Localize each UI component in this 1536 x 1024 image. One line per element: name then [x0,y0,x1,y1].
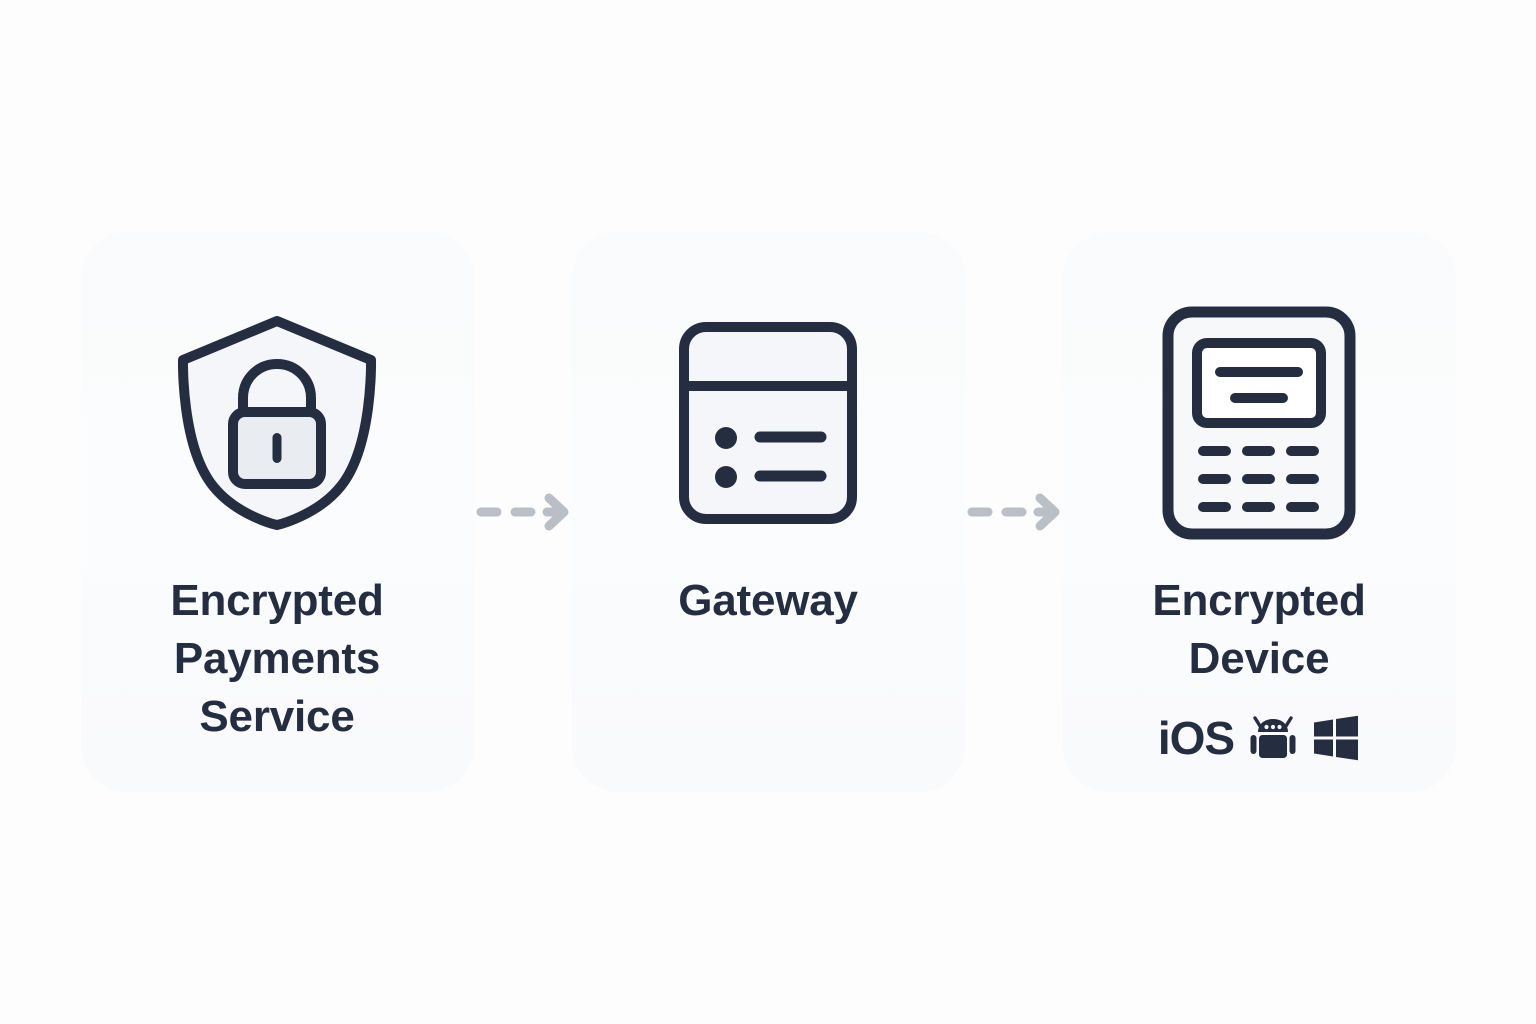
node-encrypted-payments-service[interactable]: Encrypted Payments Service [81,232,474,792]
node-encrypted-device[interactable]: Encrypted Device iOS [1063,232,1456,792]
shield-lock-icon [171,308,383,538]
windows-logo-icon [1312,715,1360,761]
connector-arrow-2 [965,232,1063,792]
ios-wordmark: iOS [1158,715,1234,761]
android-robot-icon [1250,714,1296,762]
node-label-encrypted-device: Encrypted Device [1152,572,1365,688]
platform-badges: iOS [1158,710,1360,766]
server-gateway-icon [677,308,859,538]
flow-row: Encrypted Payments Service [0,0,1536,1024]
payment-terminal-icon [1161,308,1357,538]
node-gateway[interactable]: Gateway [572,232,965,792]
connector-arrow-1 [474,232,572,792]
diagram-canvas: Encrypted Payments Service [0,0,1536,1024]
node-label-gateway: Gateway [678,572,858,630]
node-label-encrypted-payments-service: Encrypted Payments Service [170,572,383,746]
